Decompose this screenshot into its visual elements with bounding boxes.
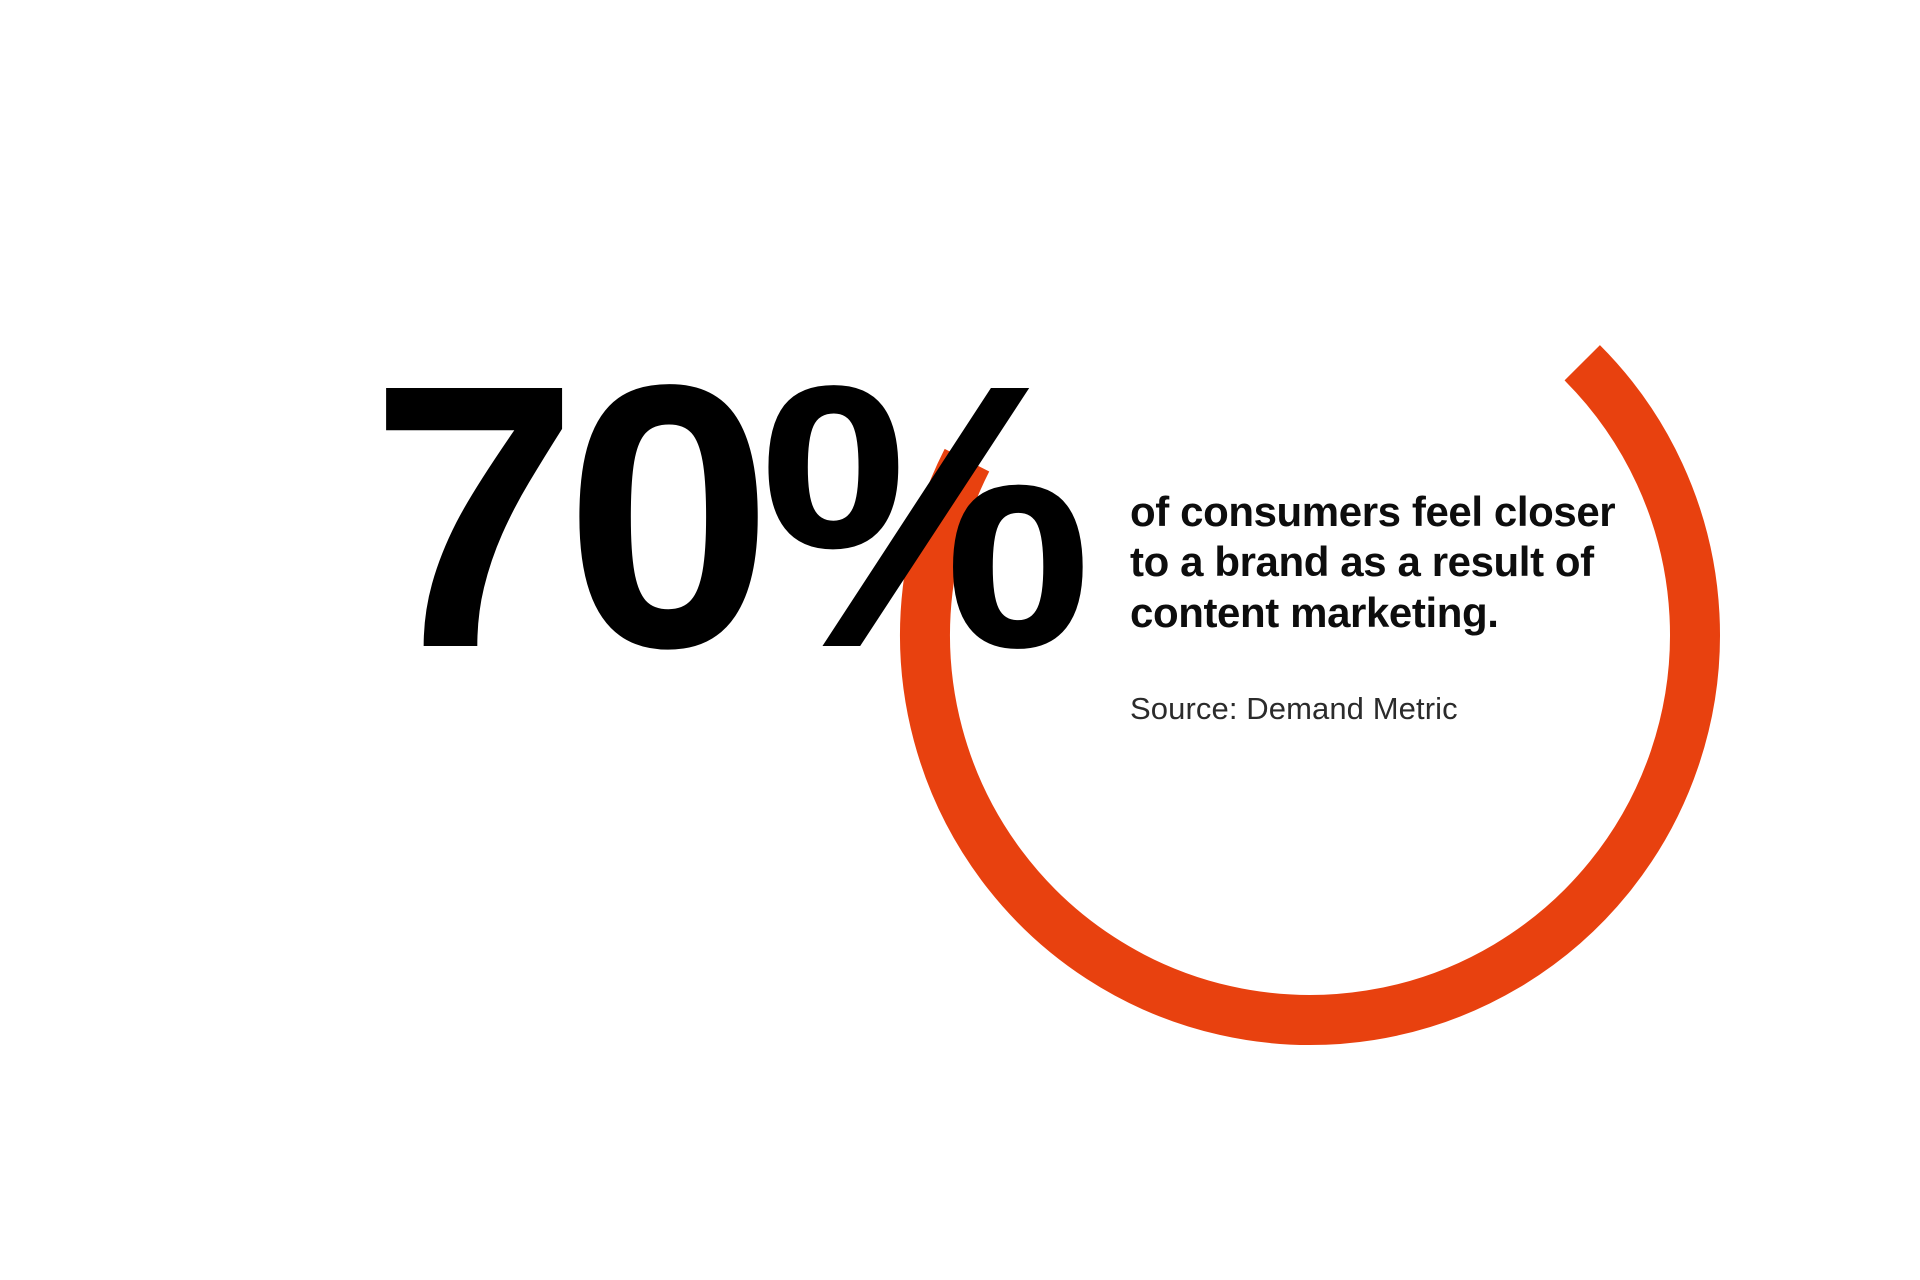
stat-percentage: 70% [370,330,1079,705]
statement-text: of consumers feel closer to a brand as a… [1130,487,1690,638]
source-attribution: Source: Demand Metric [1130,638,1690,727]
statement-line-2: to a brand as a result of [1130,538,1594,585]
statement-line-3: content marketing. [1130,589,1499,636]
infographic-canvas: 70% of consumers feel closer to a brand … [0,0,1920,1280]
statement-line-1: of consumers feel closer [1130,488,1615,535]
text-column: of consumers feel closer to a brand as a… [1130,487,1690,727]
